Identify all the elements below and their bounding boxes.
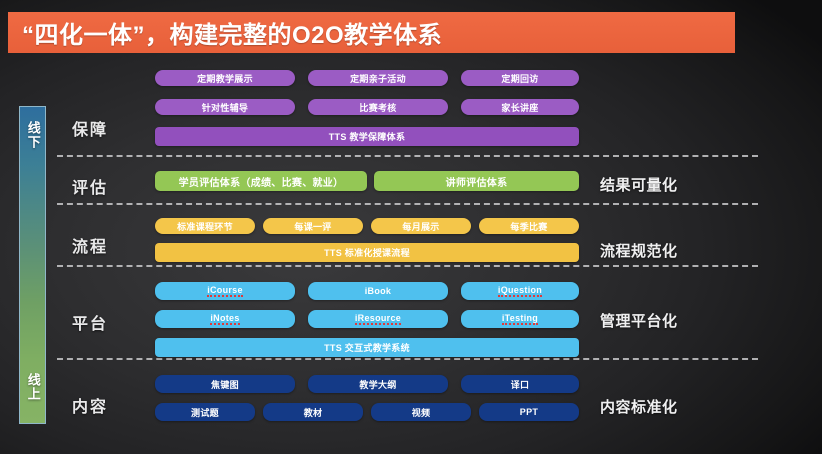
pill-content-6[interactable]: 视频 (371, 403, 471, 421)
pill-platform-inotes[interactable]: iNotes (155, 310, 295, 328)
slide-canvas: “四化一体”，构建完整的O2O教学体系 线下 线上 保障 定期教学展示 定期亲子… (0, 0, 822, 454)
pill-content-4[interactable]: 测试题 (155, 403, 255, 421)
bar-platform-system[interactable]: TTS 交互式教学系统 (155, 338, 579, 357)
divider-1 (57, 155, 758, 157)
right-label-content: 内容标准化 (600, 396, 730, 417)
axis-label-online: 线上 (25, 373, 40, 401)
right-label-evaluation: 结果可量化 (600, 174, 730, 195)
title-bar: “四化一体”，构建完整的O2O教学体系 (8, 12, 735, 53)
row-label-process: 流程 (72, 233, 152, 257)
pill-content-7[interactable]: PPT (479, 403, 579, 421)
online-offline-axis: 线下 线上 (19, 106, 46, 424)
pill-label: iResource (355, 314, 401, 325)
bar-process-system[interactable]: TTS 标准化授课流程 (155, 243, 579, 262)
pill-content-3[interactable]: 译口 (461, 375, 579, 393)
pill-guarantee-6[interactable]: 家长讲座 (461, 99, 579, 115)
divider-2 (57, 203, 758, 205)
axis-label-offline: 线下 (25, 121, 40, 149)
right-label-process: 流程规范化 (600, 240, 730, 261)
pill-process-4[interactable]: 每季比赛 (479, 218, 579, 234)
pill-process-1[interactable]: 标准课程环节 (155, 218, 255, 234)
row-label-guarantee: 保障 (72, 116, 152, 140)
pill-process-2[interactable]: 每课一评 (263, 218, 363, 234)
pill-evaluation-2[interactable]: 讲师评估体系 (374, 171, 579, 191)
pill-guarantee-2[interactable]: 定期亲子活动 (308, 70, 448, 86)
pill-label: iBook (365, 286, 392, 296)
pill-platform-itesting[interactable]: iTesting (461, 310, 579, 328)
pill-evaluation-1[interactable]: 学员评估体系（成绩、比赛、就业） (155, 171, 367, 191)
row-label-content: 内容 (72, 393, 152, 417)
divider-3 (57, 265, 758, 267)
row-label-evaluation: 评估 (72, 174, 152, 198)
row-label-platform: 平台 (72, 310, 152, 334)
pill-content-2[interactable]: 教学大纲 (308, 375, 448, 393)
pill-process-3[interactable]: 每月展示 (371, 218, 471, 234)
pill-platform-iresource[interactable]: iResource (308, 310, 448, 328)
pill-content-5[interactable]: 教材 (263, 403, 363, 421)
pill-guarantee-3[interactable]: 定期回访 (461, 70, 579, 86)
pill-platform-icourse[interactable]: iCourse (155, 282, 295, 300)
pill-platform-iquestion[interactable]: iQuestion (461, 282, 579, 300)
pill-guarantee-5[interactable]: 比赛考核 (308, 99, 448, 115)
pill-guarantee-4[interactable]: 针对性辅导 (155, 99, 295, 115)
pill-platform-ibook[interactable]: iBook (308, 282, 448, 300)
pill-content-1[interactable]: 焦键图 (155, 375, 295, 393)
divider-4 (57, 358, 758, 360)
pill-label: iTesting (502, 314, 538, 325)
pill-label: iCourse (207, 286, 243, 297)
page-title: “四化一体”，构建完整的O2O教学体系 (8, 15, 442, 50)
right-label-platform: 管理平台化 (600, 310, 730, 331)
pill-label: iQuestion (498, 286, 542, 297)
pill-guarantee-1[interactable]: 定期教学展示 (155, 70, 295, 86)
bar-guarantee-system[interactable]: TTS 教学保障体系 (155, 127, 579, 146)
pill-label: iNotes (210, 314, 239, 325)
